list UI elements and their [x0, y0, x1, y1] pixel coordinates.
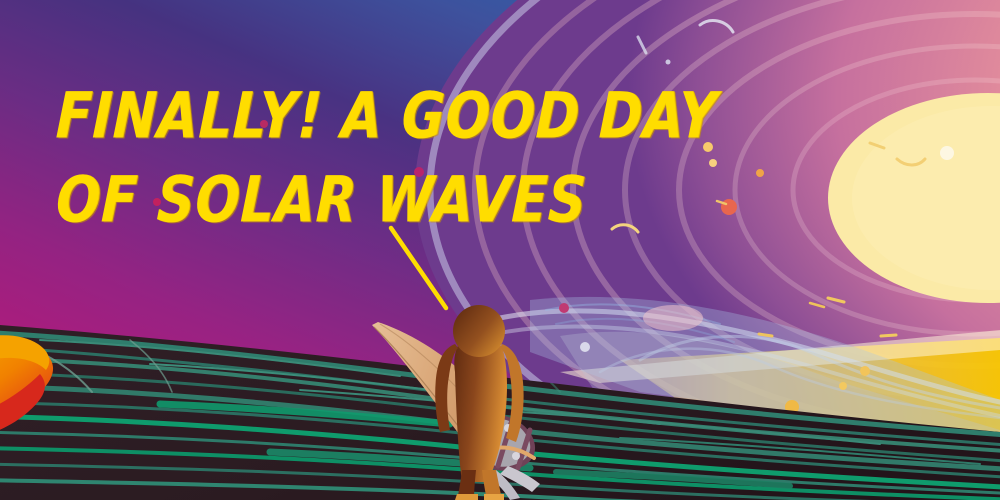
dot-red: [721, 199, 737, 215]
tick-gold-4: [759, 334, 772, 336]
surfer-left-foot: [455, 494, 478, 500]
swirl-blob: [643, 305, 703, 331]
dot-yellow-1: [703, 142, 713, 152]
dot-magenta-2: [260, 120, 268, 128]
dot-small-a: [666, 60, 671, 65]
poster-canvas: FINALLY! A GOOD DAY OF SOLAR WAVES: [0, 0, 1000, 500]
dot-orange: [756, 169, 764, 177]
dot-yellow-2: [709, 159, 717, 167]
surfer-right-foot: [484, 494, 504, 500]
dot-small-c: [839, 382, 847, 390]
surfer-head: [453, 305, 505, 357]
dot-magenta-4: [559, 303, 569, 313]
dot-magenta-3: [414, 167, 424, 177]
scene-illustration: [0, 0, 1000, 500]
dot-magenta-1: [153, 198, 161, 206]
tick-gold-5: [881, 335, 896, 336]
dot-pale-blue: [580, 342, 590, 352]
dot-white: [940, 146, 954, 160]
dot-small-b: [860, 366, 870, 376]
